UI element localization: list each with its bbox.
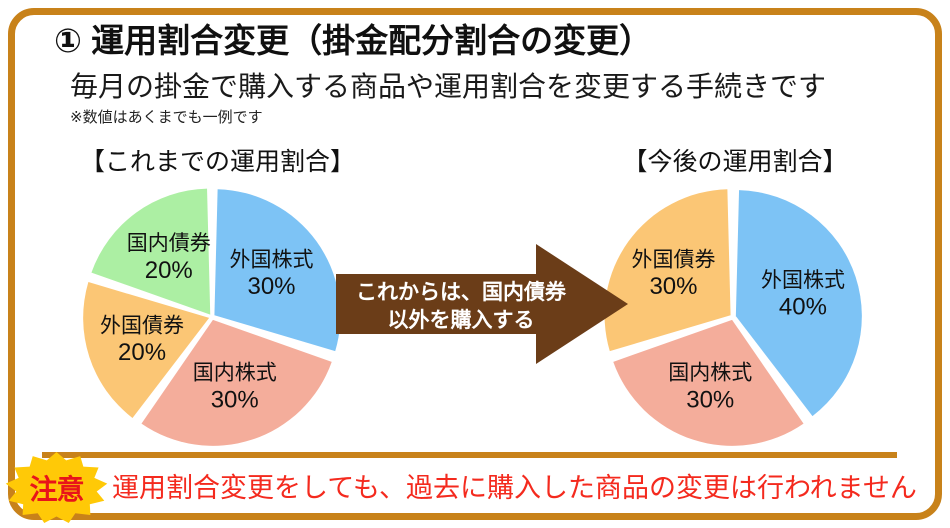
- starburst-shape: [6, 452, 108, 523]
- chart-caption-before: 【これまでの運用割合】: [80, 142, 350, 178]
- pie-slice-name: 外国債券: [631, 248, 715, 271]
- page-subtitle: 毎月の掛金で購入する商品や運用割合を変更する手続きです: [70, 65, 826, 105]
- pie-slice-value: 20%: [118, 339, 166, 366]
- pie-slice-name: 外国債券: [100, 314, 184, 337]
- caution-starburst-icon: [4, 452, 109, 524]
- pie-slice-name: 国内株式: [668, 362, 752, 385]
- pie-slice-value: 30%: [211, 386, 259, 413]
- pie-slice-value: 30%: [649, 273, 697, 300]
- transition-arrow: [336, 240, 628, 368]
- pie-chart-before-svg: 外国株式30%国内株式30%外国債券20%国内債券20%: [78, 186, 348, 448]
- arrow-shape: [336, 244, 628, 364]
- pie-chart-after: 外国株式40%国内株式30%外国債券30%: [594, 186, 874, 448]
- pie-slice-value: 40%: [779, 294, 827, 321]
- pie-chart-before: 外国株式30%国内株式30%外国債券20%国内債券20%: [78, 186, 348, 448]
- pie-slice-name: 国内債券: [127, 232, 211, 255]
- page-note: ※数値はあくまでも一例です: [70, 106, 263, 127]
- pie-slice-value: 30%: [247, 273, 295, 300]
- page-title: ① 運用割合変更（掛金配分割合の変更）: [54, 14, 652, 62]
- pie-slice-value: 30%: [686, 386, 734, 413]
- pie-slice-name: 国内株式: [193, 362, 277, 385]
- pie-slice-value: 20%: [145, 257, 193, 284]
- pie-slice-name: 外国株式: [230, 248, 314, 271]
- caution-message: 運用割合変更をしても、過去に購入した商品の変更は行われません: [112, 466, 917, 505]
- pie-chart-after-svg: 外国株式40%国内株式30%外国債券30%: [594, 186, 874, 448]
- pie-slice-name: 外国株式: [761, 269, 845, 292]
- caution-divider: [42, 452, 897, 458]
- chart-caption-after: 【今後の運用割合】: [590, 142, 880, 178]
